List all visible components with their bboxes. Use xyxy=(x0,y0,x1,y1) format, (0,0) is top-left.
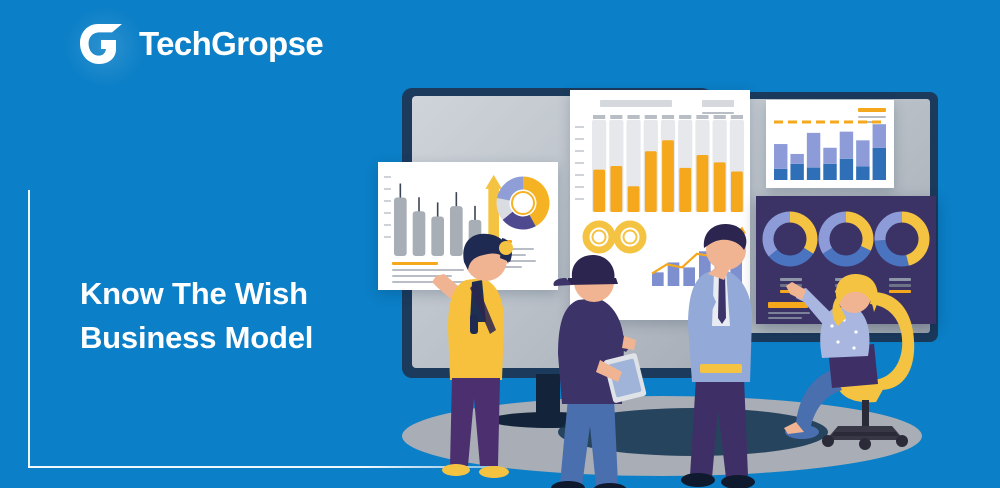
card-center-meta-line xyxy=(702,112,734,114)
card-center-meta-placeholder xyxy=(702,100,734,107)
person-man-with-tablet xyxy=(538,248,658,488)
business-analytics-illustration xyxy=(378,78,978,478)
page-title-line1: Know The Wish xyxy=(80,272,313,316)
person-woman-presenter xyxy=(426,218,536,488)
techgropse-g-logo-icon xyxy=(78,18,130,70)
banner-root: TechGropse Know The Wish Business Model xyxy=(0,0,1000,488)
decorative-frame-left xyxy=(28,190,30,468)
card-center-column-chart xyxy=(592,120,744,212)
card-blue-stacked-chart xyxy=(774,118,886,180)
card-center-title-placeholder xyxy=(600,100,672,107)
card-blue-legend-swatch xyxy=(858,108,886,112)
logo-text: TechGropse xyxy=(139,25,323,63)
page-title-line2: Business Model xyxy=(80,316,313,360)
logo[interactable]: TechGropse xyxy=(78,18,323,70)
purple-board-donuts xyxy=(762,208,932,270)
chart-card-blue-stacked xyxy=(766,100,894,188)
person-woman-seated xyxy=(776,274,956,474)
page-title: Know The Wish Business Model xyxy=(80,272,313,360)
person-man-standing xyxy=(668,214,778,488)
